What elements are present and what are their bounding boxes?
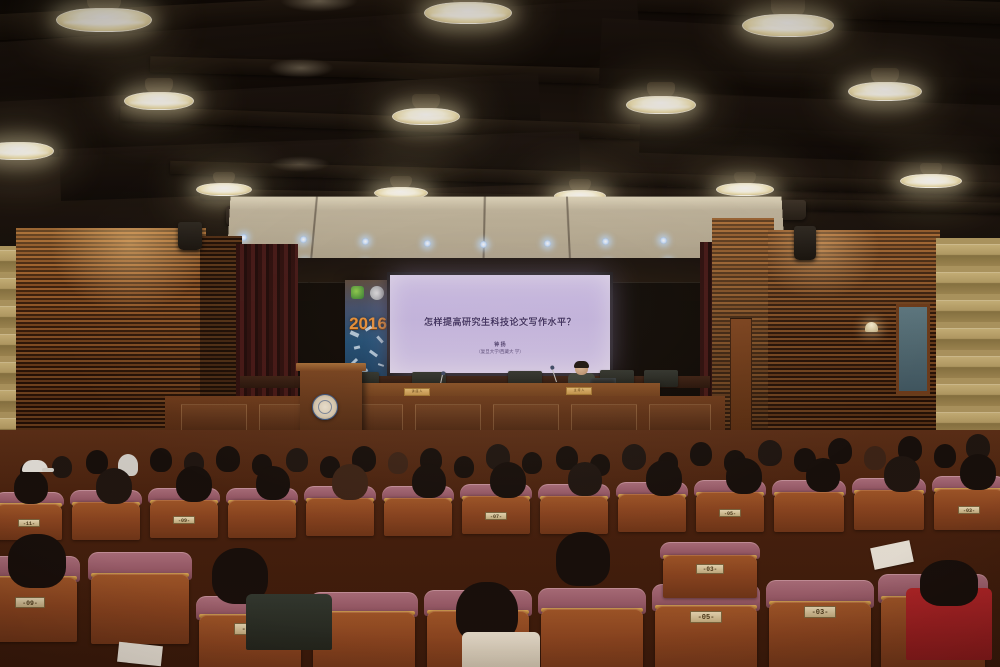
recessed-downlight <box>424 240 431 247</box>
ceiling-light-fixture <box>392 108 460 125</box>
seat-number-plate: -03- <box>804 606 836 618</box>
slide-title: 怎样提高研究生科技论文写作水平？ <box>390 315 610 328</box>
audience-person <box>556 532 610 586</box>
seat-number-plate: -07- <box>485 512 507 520</box>
recessed-downlight <box>300 236 307 243</box>
seat[interactable]: -03- <box>766 580 874 667</box>
recessed-downlight <box>544 240 551 247</box>
ceiling-light-fixture <box>56 8 152 32</box>
audience-person-clothing <box>246 594 332 650</box>
loudspeaker-icon <box>794 226 816 260</box>
ceiling-light-fixture <box>0 142 54 160</box>
window-right-wall <box>896 304 930 394</box>
seat-number-plate: -11- <box>18 519 40 527</box>
name-card: 主 持 人 <box>566 387 592 395</box>
ceiling-light-fixture <box>124 92 194 110</box>
name-card: 讲 座 人 <box>404 388 430 396</box>
seat-number-plate: -09- <box>173 516 195 524</box>
recessed-downlight <box>362 238 369 245</box>
ceiling-light-fixture <box>196 183 252 196</box>
gray-seal-logo-icon <box>370 286 384 300</box>
audience-person <box>8 534 66 588</box>
seat[interactable]: -03- <box>660 542 760 598</box>
loudspeaker-icon <box>178 222 202 250</box>
seat-number-plate: -09- <box>15 597 45 608</box>
audience-person-clothing <box>462 632 540 667</box>
audience-near-rows: -09- -09- -07- -05- -03- -03- <box>0 540 1000 667</box>
audience-person-with-cap <box>22 458 52 476</box>
seat[interactable] <box>88 552 192 644</box>
ceiling-light-fixture <box>900 174 962 188</box>
audience-person <box>920 560 978 606</box>
wall-sconce-icon <box>865 322 878 332</box>
recessed-downlight <box>480 241 487 248</box>
seat-number-plate: -03- <box>696 564 724 574</box>
slide-presenter: 钟 扬 <box>390 341 610 348</box>
projection-screen: 怎样提高研究生科技论文写作水平？ 钟 扬 （复旦大学/西藏大 学） <box>390 275 610 373</box>
ceiling-light-fixture <box>742 14 834 37</box>
slide-affiliation: （复旦大学/西藏大 学） <box>390 349 610 356</box>
ceiling-light-fixture <box>626 96 696 114</box>
loudspeaker-icon <box>780 200 806 220</box>
university-seal-emblem-icon <box>312 394 338 420</box>
seat-number-plate: -05- <box>690 611 722 623</box>
name-card-text: 讲 座 人 <box>405 389 429 394</box>
green-leaf-logo-icon <box>351 286 364 299</box>
seat-number-plate: -05- <box>719 509 741 517</box>
recessed-downlight <box>602 238 609 245</box>
recessed-downlight <box>660 237 667 244</box>
seat[interactable] <box>538 588 646 667</box>
seat-number-plate: -03- <box>958 506 980 514</box>
ceiling-light-fixture <box>848 82 922 101</box>
ceiling-light-fixture <box>424 2 512 24</box>
handout-paper <box>117 642 163 666</box>
auditorium-photo: 2016 论坛 怎样提高研究生科技论文写作水平？ 钟 扬 （复旦大学/西藏大 <box>0 0 1000 667</box>
name-card-text: 主 持 人 <box>567 388 591 393</box>
ceiling-light-fixture <box>716 183 774 196</box>
handout-paper <box>870 540 914 570</box>
